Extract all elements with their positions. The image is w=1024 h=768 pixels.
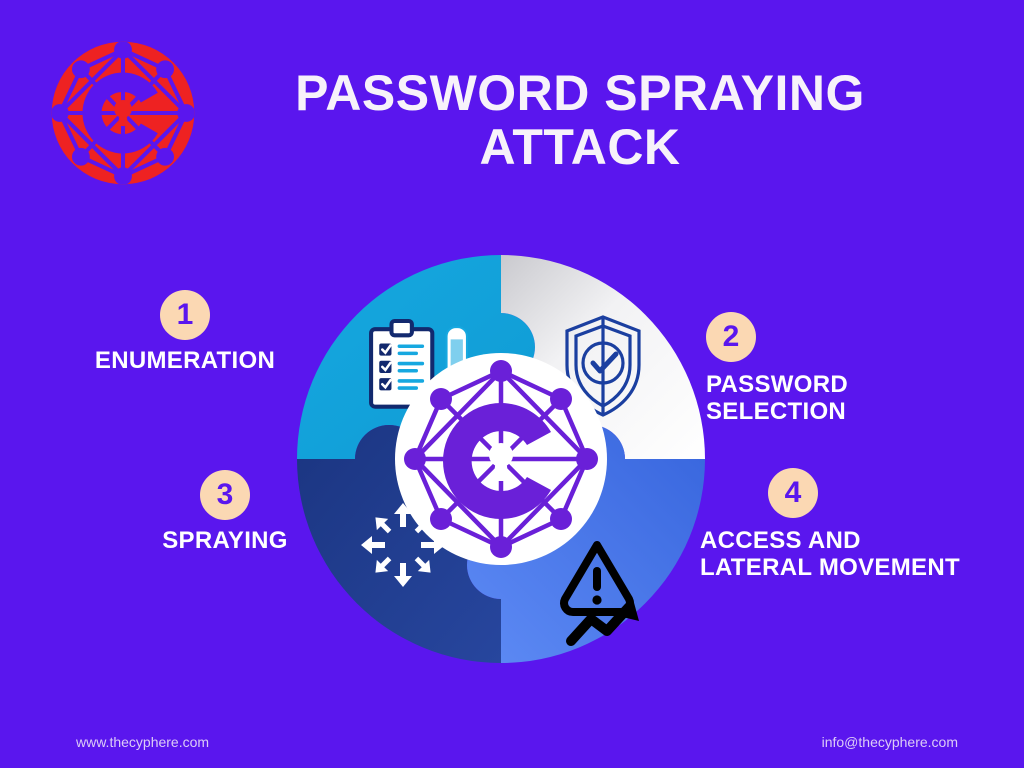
- step-spraying: 3 SPRAYING: [90, 470, 360, 555]
- center-cyphere-logo-icon: [395, 353, 607, 565]
- step-badge-2: 2: [706, 312, 756, 362]
- step-badge-1: 1: [160, 290, 210, 340]
- step-access-lateral-movement: 4 ACCESS AND LATERAL MOVEMENT: [700, 468, 1020, 582]
- cyphere-network-lock-logo-icon: [42, 32, 204, 194]
- step-badge-3: 3: [200, 470, 250, 520]
- step-label-access-lateral-movement: ACCESS AND LATERAL MOVEMENT: [700, 528, 1020, 582]
- step-label-spraying: SPRAYING: [90, 528, 360, 555]
- infographic-poster: PASSWORD SPRAYING ATTACK: [0, 0, 1024, 768]
- step-label-enumeration: ENUMERATION: [40, 348, 330, 375]
- footer-website[interactable]: www.thecyphere.com: [76, 734, 209, 750]
- page-title: PASSWORD SPRAYING ATTACK: [240, 66, 920, 174]
- step-badge-4: 4: [768, 468, 818, 518]
- footer-email[interactable]: info@thecyphere.com: [822, 734, 958, 750]
- puzzle-diagram: [295, 253, 707, 665]
- step-password-selection: 2 PASSWORD SELECTION: [706, 250, 1006, 426]
- step-label-password-selection: PASSWORD SELECTION: [706, 372, 1006, 426]
- step-enumeration: 1 ENUMERATION: [40, 290, 330, 375]
